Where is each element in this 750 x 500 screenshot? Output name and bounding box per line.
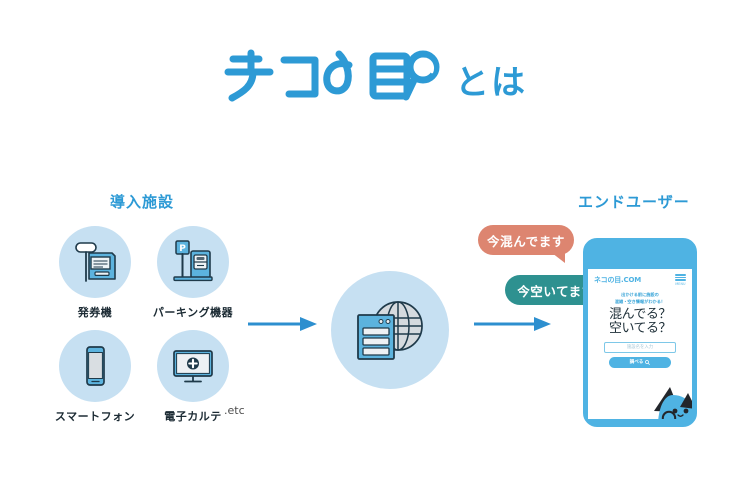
cat-mascot-icon	[650, 381, 692, 419]
app-header: ネコの目.COM MENU	[588, 269, 692, 289]
facility-search-input[interactable]: 施設名を入力	[604, 342, 676, 353]
app-logo: ネコの目.COM	[594, 275, 641, 285]
app-tagline-line2: 混雑・空き情報がわかる！	[588, 299, 692, 305]
menu-label: MENU	[675, 282, 685, 286]
device-disc: P	[157, 226, 229, 298]
parking-meter-icon: P	[169, 238, 217, 286]
electronic-medical-record-icon	[168, 344, 218, 388]
app-headline-line1: 混んでる？	[588, 308, 692, 323]
device-disc	[59, 226, 131, 298]
device-item-ticket-machine[interactable]: 発券機	[46, 226, 144, 330]
app-headline-line2: 空いてる？	[588, 322, 692, 337]
device-item-emr[interactable]: 電子カルテ	[144, 330, 242, 434]
device-label: パーキング機器	[144, 304, 242, 320]
device-disc	[59, 330, 131, 402]
device-label: 発券機	[46, 304, 144, 320]
neko-no-me-logo	[223, 48, 441, 104]
menu-bar	[675, 274, 686, 276]
device-label: スマートフォン	[46, 408, 144, 424]
hamburger-menu-icon[interactable]: MENU	[675, 274, 686, 286]
device-item-parking-meter[interactable]: P パーキング機器	[144, 226, 242, 330]
device-item-smartphone[interactable]: スマートフォン	[46, 330, 144, 434]
enduser-heading: エンドユーザー	[578, 191, 690, 212]
etc-note: .etc	[224, 404, 245, 417]
phone-top-bar	[588, 243, 692, 256]
page-title: とは	[0, 48, 750, 104]
infographic-canvas: とは 導入施設 エンドユーザー 発券機	[0, 0, 750, 500]
search-button[interactable]: 調べる	[609, 357, 671, 368]
speech-bubble-busy: 今混んでます	[478, 225, 574, 255]
device-disc	[157, 330, 229, 402]
page-title-suffix: とは	[455, 66, 527, 104]
search-button-label: 調べる	[630, 359, 644, 365]
facility-device-grid: 発券機 P パーキング機器	[46, 226, 242, 434]
menu-bar	[675, 277, 686, 279]
cloud-server-hub	[331, 271, 449, 389]
app-tagline: 出かける前に施設の 混雑・空き情報がわかる！	[588, 292, 692, 305]
arrow-right-icon-left	[248, 316, 318, 332]
phone-bottom-bar	[588, 419, 692, 427]
smartphone-mockup: ネコの目.COM MENU 出かける前に施設の 混雑・空き情報がわかる！ 混んで…	[583, 238, 697, 427]
magnifier-icon	[645, 360, 650, 365]
phone-screen: ネコの目.COM MENU 出かける前に施設の 混雑・空き情報がわかる！ 混んで…	[588, 269, 692, 419]
ticket-machine-icon	[71, 239, 119, 285]
smartphone-icon	[73, 343, 117, 389]
svg-text:P: P	[179, 244, 186, 254]
arrow-right-icon-right	[474, 316, 552, 332]
facilities-heading: 導入施設	[110, 191, 174, 212]
menu-bar	[675, 279, 686, 281]
app-headline: 混んでる？ 空いてる？	[588, 308, 692, 337]
server-globe-icon	[348, 295, 432, 365]
